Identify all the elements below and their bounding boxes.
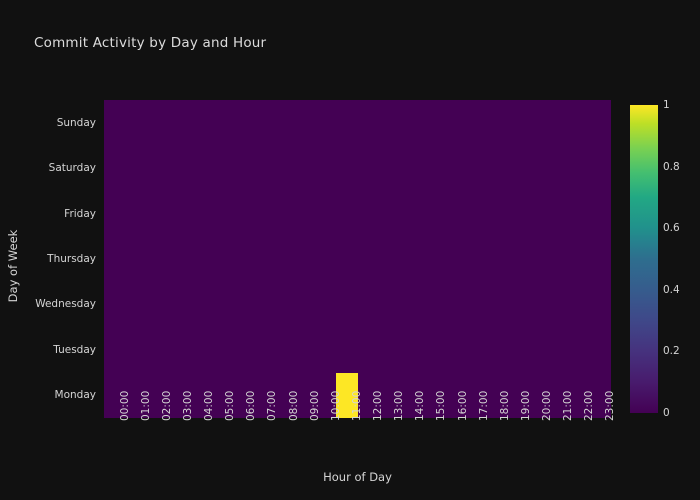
heatmap-cell[interactable]: [231, 145, 252, 190]
heatmap-cell[interactable]: [294, 327, 315, 372]
y-tick-label: Wednesday: [35, 298, 96, 310]
heatmap-cell[interactable]: [400, 282, 421, 327]
heatmap-cell[interactable]: [315, 100, 336, 145]
heatmap-cell[interactable]: [189, 327, 210, 372]
heatmap-cell[interactable]: [590, 145, 611, 190]
heatmap-cell[interactable]: [442, 191, 463, 236]
heatmap-cell[interactable]: [442, 100, 463, 145]
heatmap-cell[interactable]: [125, 327, 146, 372]
heatmap-cell[interactable]: [484, 282, 505, 327]
heatmap-cell[interactable]: [548, 191, 569, 236]
x-tick-label: 14:00: [414, 391, 426, 421]
x-tick-label: 01:00: [140, 391, 152, 421]
heatmap-cell[interactable]: [252, 191, 273, 236]
heatmap-cell[interactable]: [463, 100, 484, 145]
heatmap-cell[interactable]: [400, 145, 421, 190]
x-tick-label: 09:00: [309, 391, 321, 421]
x-tick-label: 12:00: [372, 391, 384, 421]
heatmap-cell[interactable]: [379, 145, 400, 190]
heatmap-cell[interactable]: [505, 282, 526, 327]
heatmap-cell[interactable]: [484, 327, 505, 372]
y-axis-tick-labels: SundaySaturdayFridayThursdayWednesdayTue…: [0, 100, 96, 418]
heatmap-cell[interactable]: [189, 145, 210, 190]
heatmap-cell[interactable]: [294, 100, 315, 145]
heatmap-cell[interactable]: [336, 191, 357, 236]
heatmap-cell[interactable]: [527, 100, 548, 145]
heatmap-cell[interactable]: [400, 100, 421, 145]
heatmap-cell[interactable]: [569, 327, 590, 372]
y-tick-label: Tuesday: [53, 344, 96, 356]
heatmap-cell[interactable]: [463, 236, 484, 281]
heatmap-cell[interactable]: [315, 145, 336, 190]
heatmap-cell[interactable]: [421, 100, 442, 145]
heatmap-cell[interactable]: [400, 327, 421, 372]
heatmap-cell[interactable]: [463, 327, 484, 372]
heatmap-cell[interactable]: [505, 191, 526, 236]
heatmap-cell[interactable]: [104, 100, 125, 145]
heatmap-cell[interactable]: [336, 327, 357, 372]
y-tick-label: Saturday: [49, 162, 96, 174]
heatmap-cell[interactable]: [273, 145, 294, 190]
heatmap-cell[interactable]: [146, 327, 167, 372]
heatmap-cell[interactable]: [569, 100, 590, 145]
heatmap-cell[interactable]: [463, 191, 484, 236]
x-tick-label: 16:00: [457, 391, 469, 421]
heatmap-cell[interactable]: [336, 282, 357, 327]
x-tick-label: 15:00: [435, 391, 447, 421]
heatmap-cell[interactable]: [252, 327, 273, 372]
heatmap-cell[interactable]: [125, 282, 146, 327]
colorbar-tick-label: 0.8: [663, 161, 680, 173]
heatmap-cell[interactable]: [358, 100, 379, 145]
heatmap-cell[interactable]: [210, 100, 231, 145]
colorbar-tick-label: 0.2: [663, 345, 680, 357]
heatmap-cell[interactable]: [548, 282, 569, 327]
colorbar-gradient: [630, 105, 658, 413]
colorbar-tick-labels: 10.80.60.40.20: [663, 105, 700, 413]
heatmap-cell[interactable]: [294, 145, 315, 190]
heatmap-cell[interactable]: [505, 236, 526, 281]
heatmap-cell[interactable]: [231, 191, 252, 236]
heatmap-cell[interactable]: [590, 282, 611, 327]
heatmap-cell[interactable]: [421, 145, 442, 190]
heatmap-cell[interactable]: [400, 191, 421, 236]
heatmap-cell[interactable]: [336, 145, 357, 190]
heatmap-cell[interactable]: [484, 145, 505, 190]
heatmap-cell[interactable]: [358, 145, 379, 190]
heatmap-cell[interactable]: [484, 100, 505, 145]
heatmap-cell[interactable]: [189, 191, 210, 236]
heatmap-plot-area[interactable]: [104, 100, 611, 418]
heatmap-cell[interactable]: [484, 236, 505, 281]
heatmap-cell[interactable]: [189, 236, 210, 281]
heatmap-figure: Commit Activity by Day and Hour Day of W…: [0, 0, 700, 500]
heatmap-cell[interactable]: [548, 236, 569, 281]
heatmap-cell[interactable]: [210, 145, 231, 190]
heatmap-cell[interactable]: [527, 145, 548, 190]
heatmap-cell[interactable]: [125, 191, 146, 236]
heatmap-cell[interactable]: [294, 191, 315, 236]
heatmap-cell[interactable]: [527, 236, 548, 281]
heatmap-cell[interactable]: [146, 282, 167, 327]
heatmap-cell[interactable]: [167, 327, 188, 372]
chart-title: Commit Activity by Day and Hour: [34, 35, 266, 51]
heatmap-cell[interactable]: [231, 282, 252, 327]
heatmap-cell[interactable]: [590, 327, 611, 372]
heatmap-cell[interactable]: [505, 327, 526, 372]
heatmap-cell[interactable]: [336, 236, 357, 281]
heatmap-cell[interactable]: [379, 327, 400, 372]
heatmap-cell[interactable]: [294, 236, 315, 281]
heatmap-cell[interactable]: [336, 100, 357, 145]
x-tick-label: 21:00: [562, 391, 574, 421]
heatmap-cell[interactable]: [505, 145, 526, 190]
x-tick-label: 17:00: [478, 391, 490, 421]
y-tick-label: Sunday: [57, 117, 96, 129]
colorbar-tick-label: 0.4: [663, 284, 680, 296]
heatmap-cell[interactable]: [146, 100, 167, 145]
heatmap-cell[interactable]: [527, 191, 548, 236]
heatmap-cell[interactable]: [125, 100, 146, 145]
heatmap-cell[interactable]: [104, 191, 125, 236]
heatmap-cell[interactable]: [231, 100, 252, 145]
heatmap-cell[interactable]: [590, 100, 611, 145]
x-tick-label: 20:00: [541, 391, 553, 421]
heatmap-grid: [104, 100, 611, 418]
heatmap-cell[interactable]: [210, 282, 231, 327]
heatmap-cell[interactable]: [421, 236, 442, 281]
heatmap-cell[interactable]: [273, 282, 294, 327]
heatmap-cell[interactable]: [484, 191, 505, 236]
heatmap-cell[interactable]: [548, 100, 569, 145]
heatmap-cell[interactable]: [273, 100, 294, 145]
heatmap-cell[interactable]: [569, 191, 590, 236]
x-tick-label: 22:00: [583, 391, 595, 421]
heatmap-cell[interactable]: [167, 100, 188, 145]
heatmap-cell[interactable]: [104, 327, 125, 372]
heatmap-cell[interactable]: [315, 191, 336, 236]
x-tick-label: 23:00: [604, 391, 616, 421]
x-axis-title: Hour of Day: [104, 470, 611, 484]
heatmap-cell[interactable]: [358, 282, 379, 327]
heatmap-cell[interactable]: [252, 236, 273, 281]
heatmap-cell[interactable]: [167, 191, 188, 236]
heatmap-cell[interactable]: [421, 282, 442, 327]
x-tick-label: 07:00: [266, 391, 278, 421]
x-tick-label: 08:00: [288, 391, 300, 421]
x-tick-label: 03:00: [182, 391, 194, 421]
heatmap-cell[interactable]: [104, 282, 125, 327]
heatmap-cell[interactable]: [167, 145, 188, 190]
heatmap-cell[interactable]: [590, 191, 611, 236]
heatmap-cell[interactable]: [548, 145, 569, 190]
colorbar-tick-label: 0: [663, 407, 670, 419]
heatmap-cell[interactable]: [421, 191, 442, 236]
x-tick-label: 18:00: [499, 391, 511, 421]
heatmap-cell[interactable]: [379, 282, 400, 327]
heatmap-cell[interactable]: [400, 236, 421, 281]
heatmap-cell[interactable]: [358, 236, 379, 281]
heatmap-cell[interactable]: [442, 327, 463, 372]
heatmap-cell[interactable]: [590, 236, 611, 281]
heatmap-cell[interactable]: [442, 145, 463, 190]
colorbar-tick-label: 1: [663, 99, 670, 111]
heatmap-cell[interactable]: [294, 282, 315, 327]
heatmap-cell[interactable]: [104, 236, 125, 281]
heatmap-cell[interactable]: [146, 236, 167, 281]
y-tick-label: Monday: [55, 389, 96, 401]
heatmap-cell[interactable]: [442, 236, 463, 281]
heatmap-cell[interactable]: [548, 327, 569, 372]
heatmap-cell[interactable]: [252, 145, 273, 190]
heatmap-cell[interactable]: [379, 191, 400, 236]
x-tick-label: 05:00: [224, 391, 236, 421]
heatmap-cell[interactable]: [442, 282, 463, 327]
heatmap-cell[interactable]: [463, 282, 484, 327]
heatmap-cell[interactable]: [231, 327, 252, 372]
heatmap-cell[interactable]: [527, 327, 548, 372]
heatmap-cell[interactable]: [273, 236, 294, 281]
x-tick-label: 11:00: [351, 391, 363, 421]
heatmap-cell[interactable]: [167, 282, 188, 327]
heatmap-cell[interactable]: [210, 236, 231, 281]
heatmap-cell[interactable]: [125, 236, 146, 281]
heatmap-cell[interactable]: [569, 282, 590, 327]
heatmap-cell[interactable]: [569, 145, 590, 190]
x-tick-label: 02:00: [161, 391, 173, 421]
x-tick-label: 19:00: [520, 391, 532, 421]
heatmap-cell[interactable]: [167, 236, 188, 281]
colorbar-tick-label: 0.6: [663, 222, 680, 234]
heatmap-cell[interactable]: [315, 236, 336, 281]
heatmap-cell[interactable]: [505, 100, 526, 145]
heatmap-cell[interactable]: [273, 191, 294, 236]
heatmap-cell[interactable]: [189, 282, 210, 327]
heatmap-cell[interactable]: [315, 327, 336, 372]
x-tick-label: 06:00: [245, 391, 257, 421]
x-tick-label: 04:00: [203, 391, 215, 421]
y-tick-label: Thursday: [47, 253, 96, 265]
heatmap-cell[interactable]: [252, 282, 273, 327]
x-tick-label: 00:00: [119, 391, 131, 421]
heatmap-cell[interactable]: [210, 191, 231, 236]
x-axis-tick-labels: 00:0001:0002:0003:0004:0005:0006:0007:00…: [104, 421, 611, 469]
heatmap-cell[interactable]: [189, 100, 210, 145]
heatmap-cell[interactable]: [527, 282, 548, 327]
heatmap-cell[interactable]: [104, 145, 125, 190]
heatmap-cell[interactable]: [252, 100, 273, 145]
heatmap-cell[interactable]: [146, 145, 167, 190]
heatmap-cell[interactable]: [379, 236, 400, 281]
heatmap-cell[interactable]: [273, 327, 294, 372]
heatmap-cell[interactable]: [358, 327, 379, 372]
heatmap-cell[interactable]: [210, 327, 231, 372]
heatmap-cell[interactable]: [379, 100, 400, 145]
heatmap-cell[interactable]: [315, 282, 336, 327]
heatmap-cell[interactable]: [463, 145, 484, 190]
heatmap-cell[interactable]: [569, 236, 590, 281]
heatmap-cell[interactable]: [146, 191, 167, 236]
y-tick-label: Friday: [64, 208, 96, 220]
x-tick-label: 10:00: [330, 391, 342, 421]
heatmap-cell[interactable]: [358, 191, 379, 236]
heatmap-cell[interactable]: [125, 145, 146, 190]
x-tick-label: 13:00: [393, 391, 405, 421]
heatmap-cell[interactable]: [421, 327, 442, 372]
heatmap-cell[interactable]: [231, 236, 252, 281]
